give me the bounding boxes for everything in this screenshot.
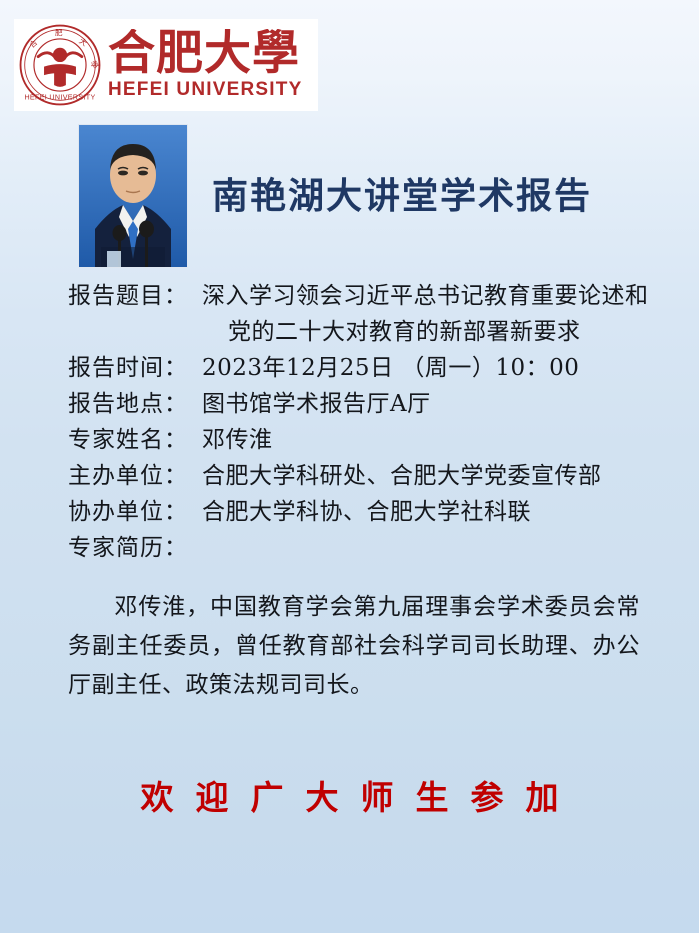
hefei-university-crest-icon: HEFEI UNIVERSITY 合 肥 大 學 — [18, 23, 102, 107]
info-row-speaker: 专家姓名： 邓传淮 — [68, 422, 668, 458]
bio-text: 邓传淮，中国教育学会第九届理事会学术委员会常务副主任委员，曾任教育部社会科学司司… — [68, 594, 640, 698]
info-row-time: 报告时间： 2023年12月25日 （周一）10：00 — [68, 350, 668, 386]
topic-value-line1: 深入学习领会习近平总书记教育重要论述和 — [202, 278, 668, 314]
time-value: 2023年12月25日 （周一）10：00 — [202, 350, 668, 386]
info-row-cohost: 协办单位： 合肥大学科协、合肥大学社科联 — [68, 494, 668, 530]
topic-value-line2: 党的二十大对教育的新部署新要求 — [202, 314, 668, 350]
place-value: 图书馆学术报告厅A厅 — [202, 386, 668, 422]
logo-wordmark: 合肥大學 HEFEI UNIVERSITY — [108, 29, 318, 101]
university-logo: HEFEI UNIVERSITY 合 肥 大 學 合肥大學 HEFEI UNIV… — [14, 19, 318, 111]
info-row-host: 主办单位： 合肥大学科研处、合肥大学党委宣传部 — [68, 458, 668, 494]
info-row-bio-label: 专家简历： — [68, 530, 668, 566]
svg-text:HEFEI UNIVERSITY: HEFEI UNIVERSITY — [24, 93, 95, 101]
speaker-label: 专家姓名： — [68, 422, 202, 458]
host-value: 合肥大学科研处、合肥大学党委宣传部 — [202, 458, 668, 494]
logo-chinese-name: 合肥大學 — [108, 29, 318, 79]
poster-canvas: HEFEI UNIVERSITY 合 肥 大 學 合肥大學 HEFEI UNIV… — [0, 0, 699, 933]
info-row-topic-line2: 党的二十大对教育的新部署新要求 — [68, 314, 668, 350]
welcome-banner: 欢迎广大师生参加 — [0, 776, 699, 820]
svg-text:肥: 肥 — [55, 28, 63, 37]
bio-label: 专家简历： — [68, 530, 202, 566]
page-title: 南艳湖大讲堂学术报告 — [212, 172, 682, 220]
cohost-label: 协办单位： — [68, 494, 202, 530]
info-row-topic: 报告题目： 深入学习领会习近平总书记教育重要论述和 — [68, 278, 668, 314]
speaker-portrait — [78, 124, 188, 268]
portrait-image — [79, 125, 187, 267]
place-label: 报告地点： — [68, 386, 202, 422]
topic-label: 报告题目： — [68, 278, 202, 314]
logo-english-name: HEFEI UNIVERSITY — [108, 79, 318, 101]
cohost-value: 合肥大学科协、合肥大学社科联 — [202, 494, 668, 530]
info-row-place: 报告地点： 图书馆学术报告厅A厅 — [68, 386, 668, 422]
bio-paragraph: 邓传淮，中国教育学会第九届理事会学术委员会常务副主任委员，曾任教育部社会科学司司… — [68, 588, 640, 705]
info-block: 报告题目： 深入学习领会习近平总书记教育重要论述和 党的二十大对教育的新部署新要… — [68, 278, 668, 705]
time-label: 报告时间： — [68, 350, 202, 386]
host-label: 主办单位： — [68, 458, 202, 494]
speaker-value: 邓传淮 — [202, 422, 668, 458]
